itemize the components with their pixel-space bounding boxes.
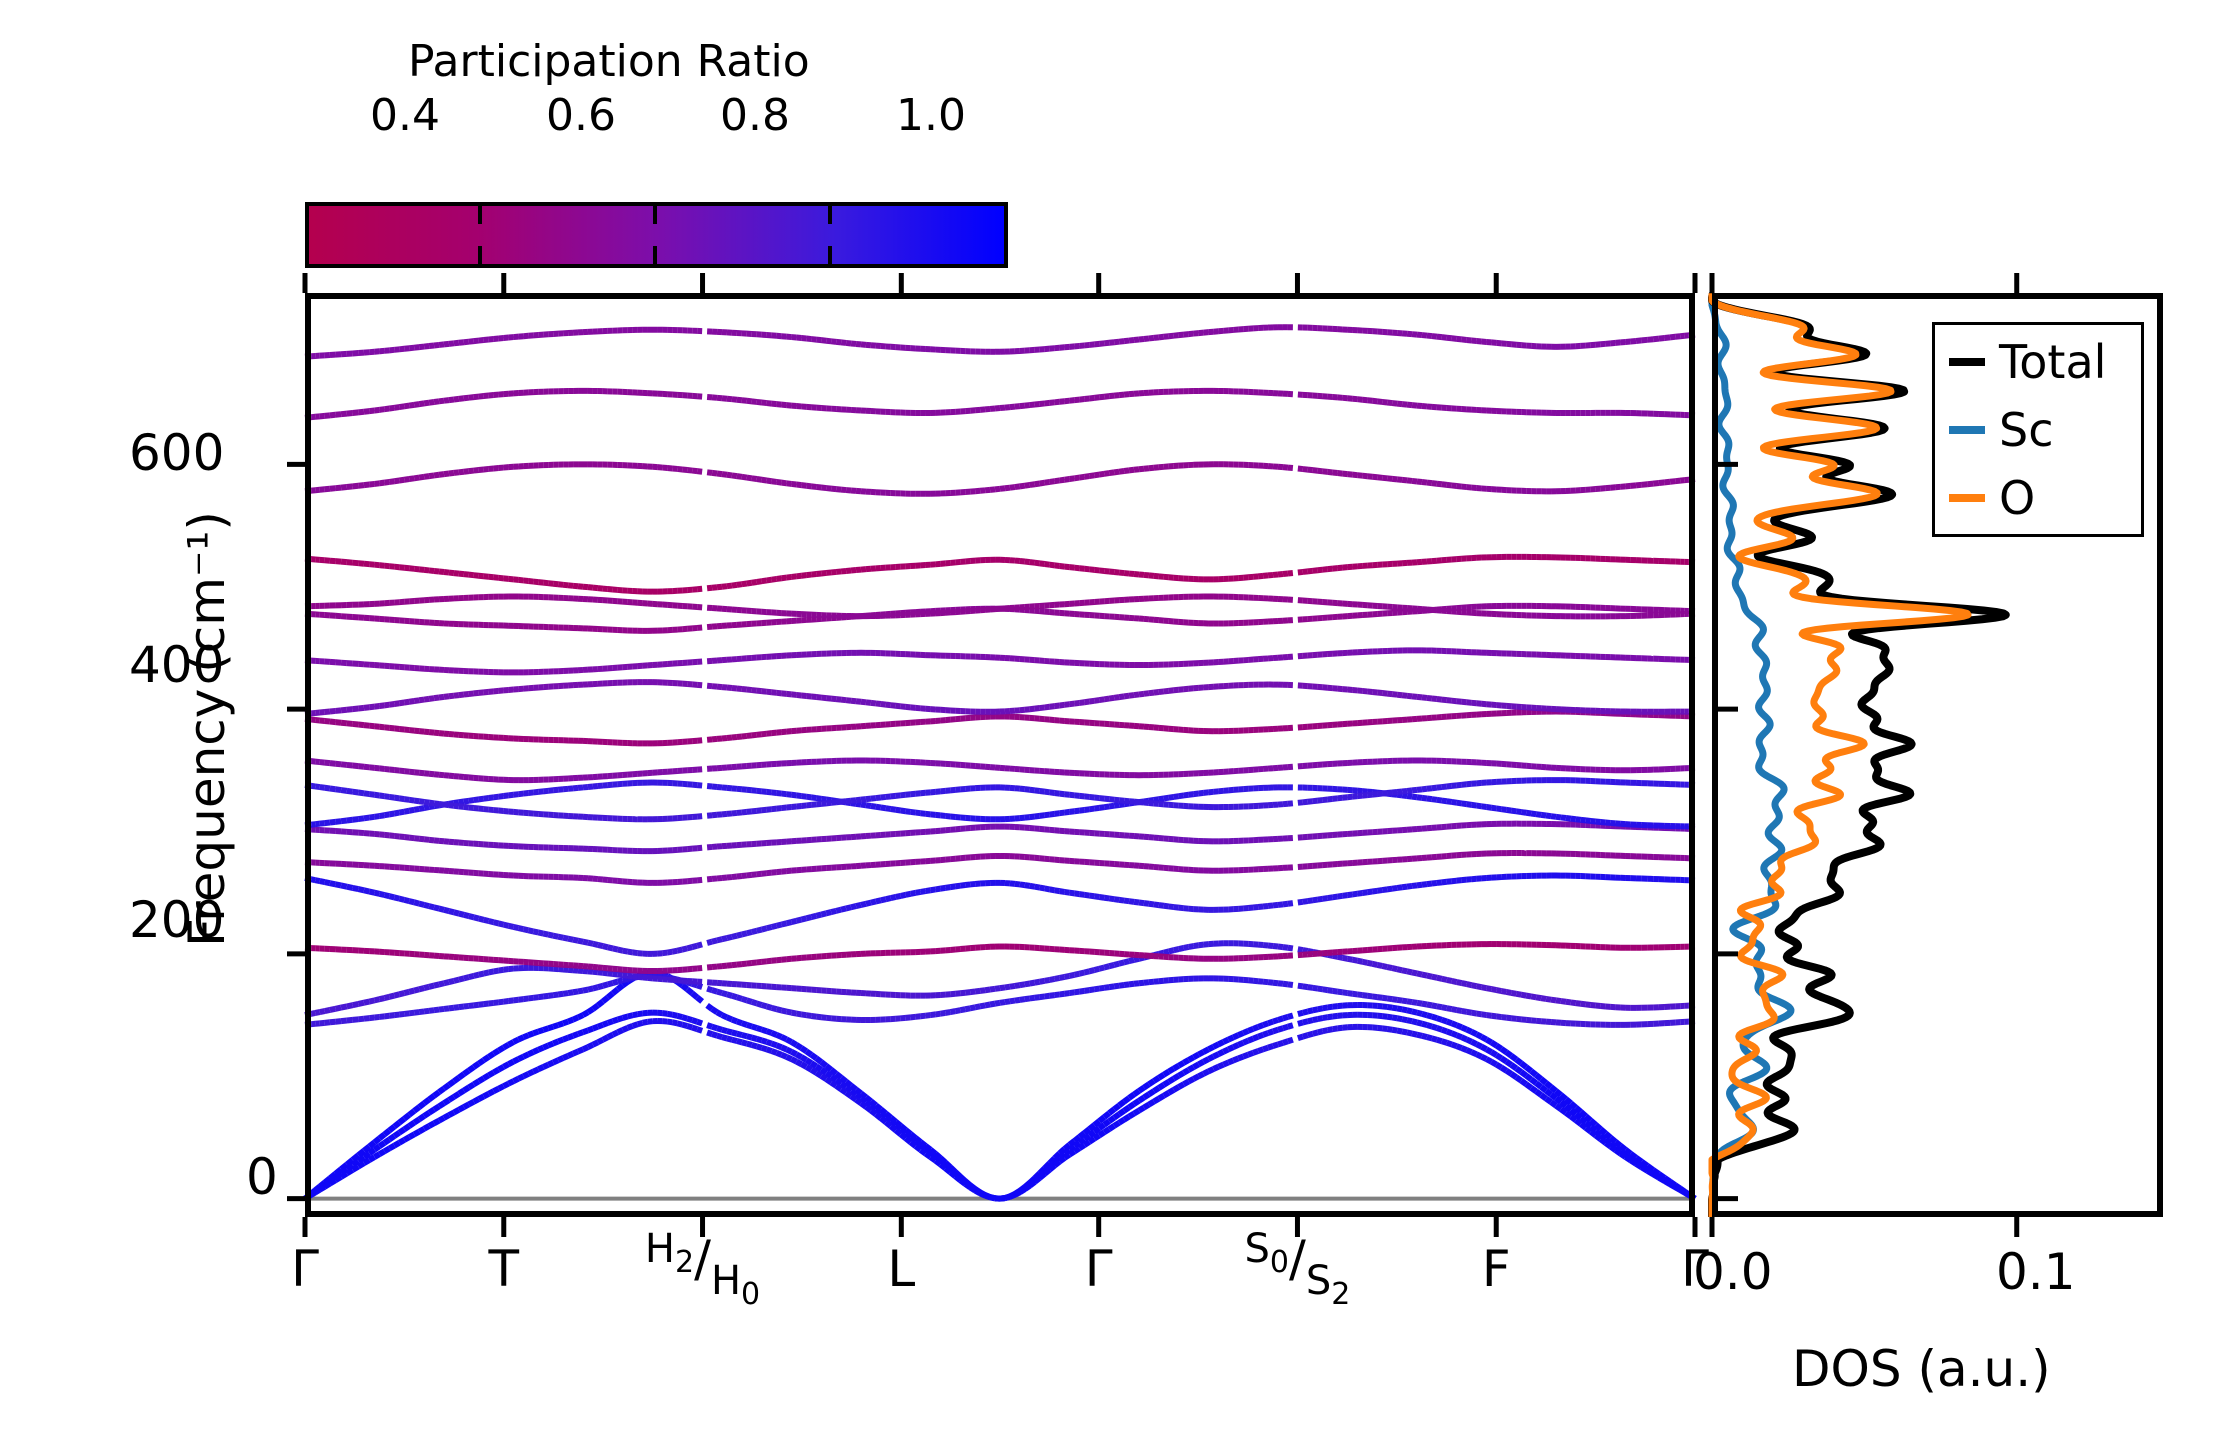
colorbar-tick-mark <box>478 206 482 224</box>
bands-xtick-label: S0/S2 <box>1245 1230 1351 1288</box>
figure-canvas: Participation Ratio 0.4 0.6 0.8 1.0 Freq… <box>0 0 2222 1455</box>
colorbar-tick-label: 0.8 <box>720 90 790 141</box>
bands-ytick-label: 400 <box>129 636 224 694</box>
bands-xtick-label: F <box>1482 1240 1511 1298</box>
legend-label: Total <box>1999 339 2106 385</box>
bands-ytick-label: 200 <box>129 891 224 949</box>
band-curve <box>305 650 1695 672</box>
colorbar-tick-mark <box>828 206 832 224</box>
dos-xtick-label: 0.0 <box>1693 1243 1773 1301</box>
colorbar[interactable] <box>305 202 1008 268</box>
colorbar-tick-mark <box>653 206 657 224</box>
band-curve <box>305 391 1695 418</box>
bands-xtick-label: L <box>887 1240 915 1298</box>
legend-swatch-sc <box>1949 426 1985 434</box>
legend-entry[interactable]: O <box>1949 475 2035 521</box>
band-curve <box>305 327 1695 356</box>
colorbar-tick-mark <box>478 246 482 264</box>
band-curve <box>305 682 1695 714</box>
colorbar-tick-label: 0.4 <box>370 90 440 141</box>
band-curve <box>305 761 1695 781</box>
colorbar-tick-label: 0.6 <box>546 90 616 141</box>
bands-xtick-label: Γ <box>291 1240 319 1298</box>
colorbar-tick-mark <box>828 246 832 264</box>
dos-xlabel: DOS (a.u.) <box>1792 1340 2051 1398</box>
legend-swatch-o <box>1949 494 1985 502</box>
bands-ylabel: Frequency (cm⁻¹) <box>178 511 236 947</box>
band-curve <box>305 712 1695 744</box>
band-curve <box>305 464 1695 494</box>
bands-ylabel-wrap: Frequency (cm⁻¹) <box>178 279 236 1179</box>
band-curve <box>305 824 1695 851</box>
band-curve <box>305 780 1695 819</box>
band-curve <box>305 557 1695 592</box>
bands-plot[interactable] <box>275 267 1725 1247</box>
colorbar-tick-label: 1.0 <box>896 90 966 141</box>
legend-entry[interactable]: Sc <box>1949 407 2054 453</box>
legend-label: Sc <box>1999 407 2054 453</box>
dos-legend[interactable]: Total Sc O <box>1932 322 2144 537</box>
bands-ytick-label: 600 <box>129 424 224 482</box>
bands-ytick-label: 0 <box>246 1148 278 1206</box>
bands-xtick-label: T <box>488 1240 519 1298</box>
legend-swatch-total <box>1949 358 1985 366</box>
band-curve <box>305 972 1695 1198</box>
bands-xtick-label: Γ <box>1085 1240 1113 1298</box>
colorbar-tick-mark <box>653 246 657 264</box>
legend-label: O <box>1999 475 2035 521</box>
dos-xtick-label: 0.1 <box>1996 1243 2076 1301</box>
band-curve <box>305 976 1695 1025</box>
bands-xtick-label: H2/H0 <box>645 1230 760 1288</box>
legend-entry[interactable]: Total <box>1949 339 2106 385</box>
colorbar-title: Participation Ratio <box>408 36 810 87</box>
